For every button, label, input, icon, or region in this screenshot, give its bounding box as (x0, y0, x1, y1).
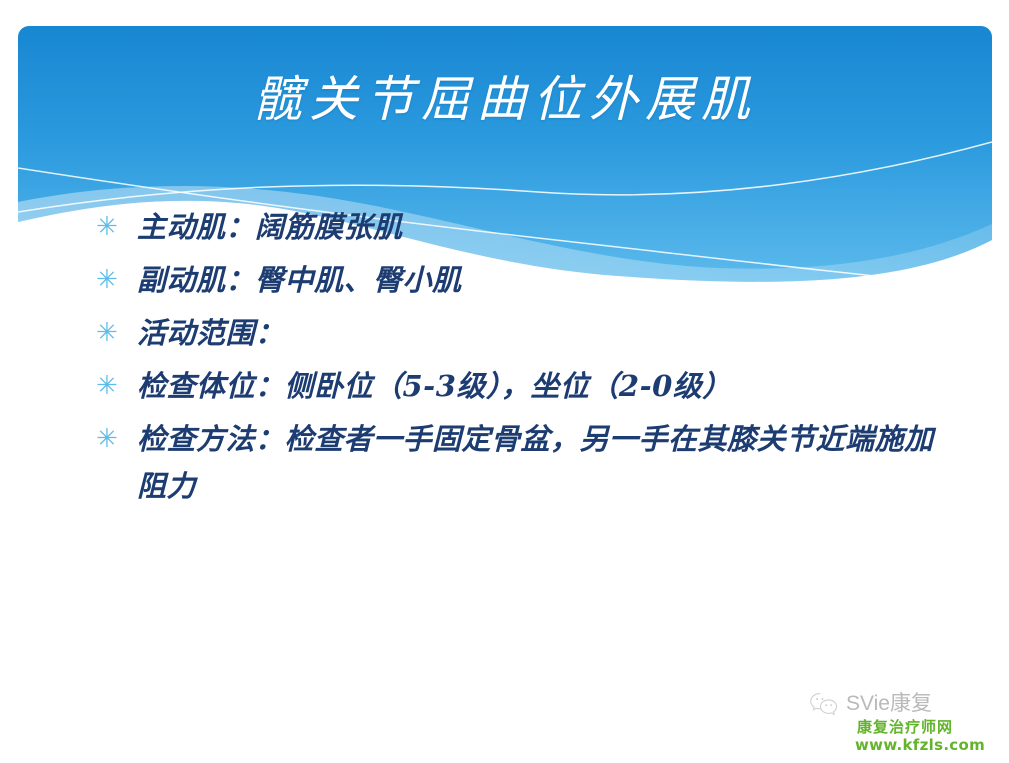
watermark-brand-text: SVie康复 (846, 691, 932, 717)
watermark-site-name: 康复治疗师网 (857, 718, 953, 736)
bullet-item-test-method: ✳ 检查方法：检查者一手固定骨盆，另一手在其膝关节近端施加阻力 (96, 416, 956, 510)
bullet-text: 检查体位：侧卧位（5-3级），坐位（2-0级） (137, 363, 956, 410)
wechat-icon (809, 691, 839, 717)
watermark-brand-row: SVie康复 (809, 691, 932, 717)
asterisk-bullet-icon: ✳ (96, 363, 122, 410)
watermark: SVie康复 康复治疗师网 www.kfzls.com (809, 687, 995, 759)
asterisk-bullet-icon: ✳ (96, 310, 122, 357)
bullet-item-range-of-motion: ✳ 活动范围： (96, 310, 956, 357)
bullet-text: 检查方法：检查者一手固定骨盆，另一手在其膝关节近端施加阻力 (137, 416, 956, 510)
asterisk-bullet-icon: ✳ (96, 204, 122, 251)
bullet-item-test-position: ✳ 检查体位：侧卧位（5-3级），坐位（2-0级） (96, 363, 956, 410)
bullet-text: 活动范围： (137, 310, 956, 357)
slide-title: 髋关节屈曲位外展肌 (18, 68, 992, 132)
watermark-site-url: www.kfzls.com (855, 736, 985, 754)
bullet-text: 副动肌：臀中肌、臀小肌 (137, 257, 956, 304)
bullet-text: 主动肌：阔筋膜张肌 (137, 204, 956, 251)
asterisk-bullet-icon: ✳ (96, 257, 122, 304)
bullet-item-prime-mover: ✳ 主动肌：阔筋膜张肌 (96, 204, 956, 251)
asterisk-bullet-icon: ✳ (96, 416, 122, 463)
slide-canvas: 髋关节屈曲位外展肌 ✳ 主动肌：阔筋膜张肌 ✳ 副动肌：臀中肌、臀小肌 ✳ 活动… (0, 0, 1009, 763)
bullet-list: ✳ 主动肌：阔筋膜张肌 ✳ 副动肌：臀中肌、臀小肌 ✳ 活动范围： ✳ 检查体位… (96, 204, 956, 518)
bullet-item-accessory-mover: ✳ 副动肌：臀中肌、臀小肌 (96, 257, 956, 304)
